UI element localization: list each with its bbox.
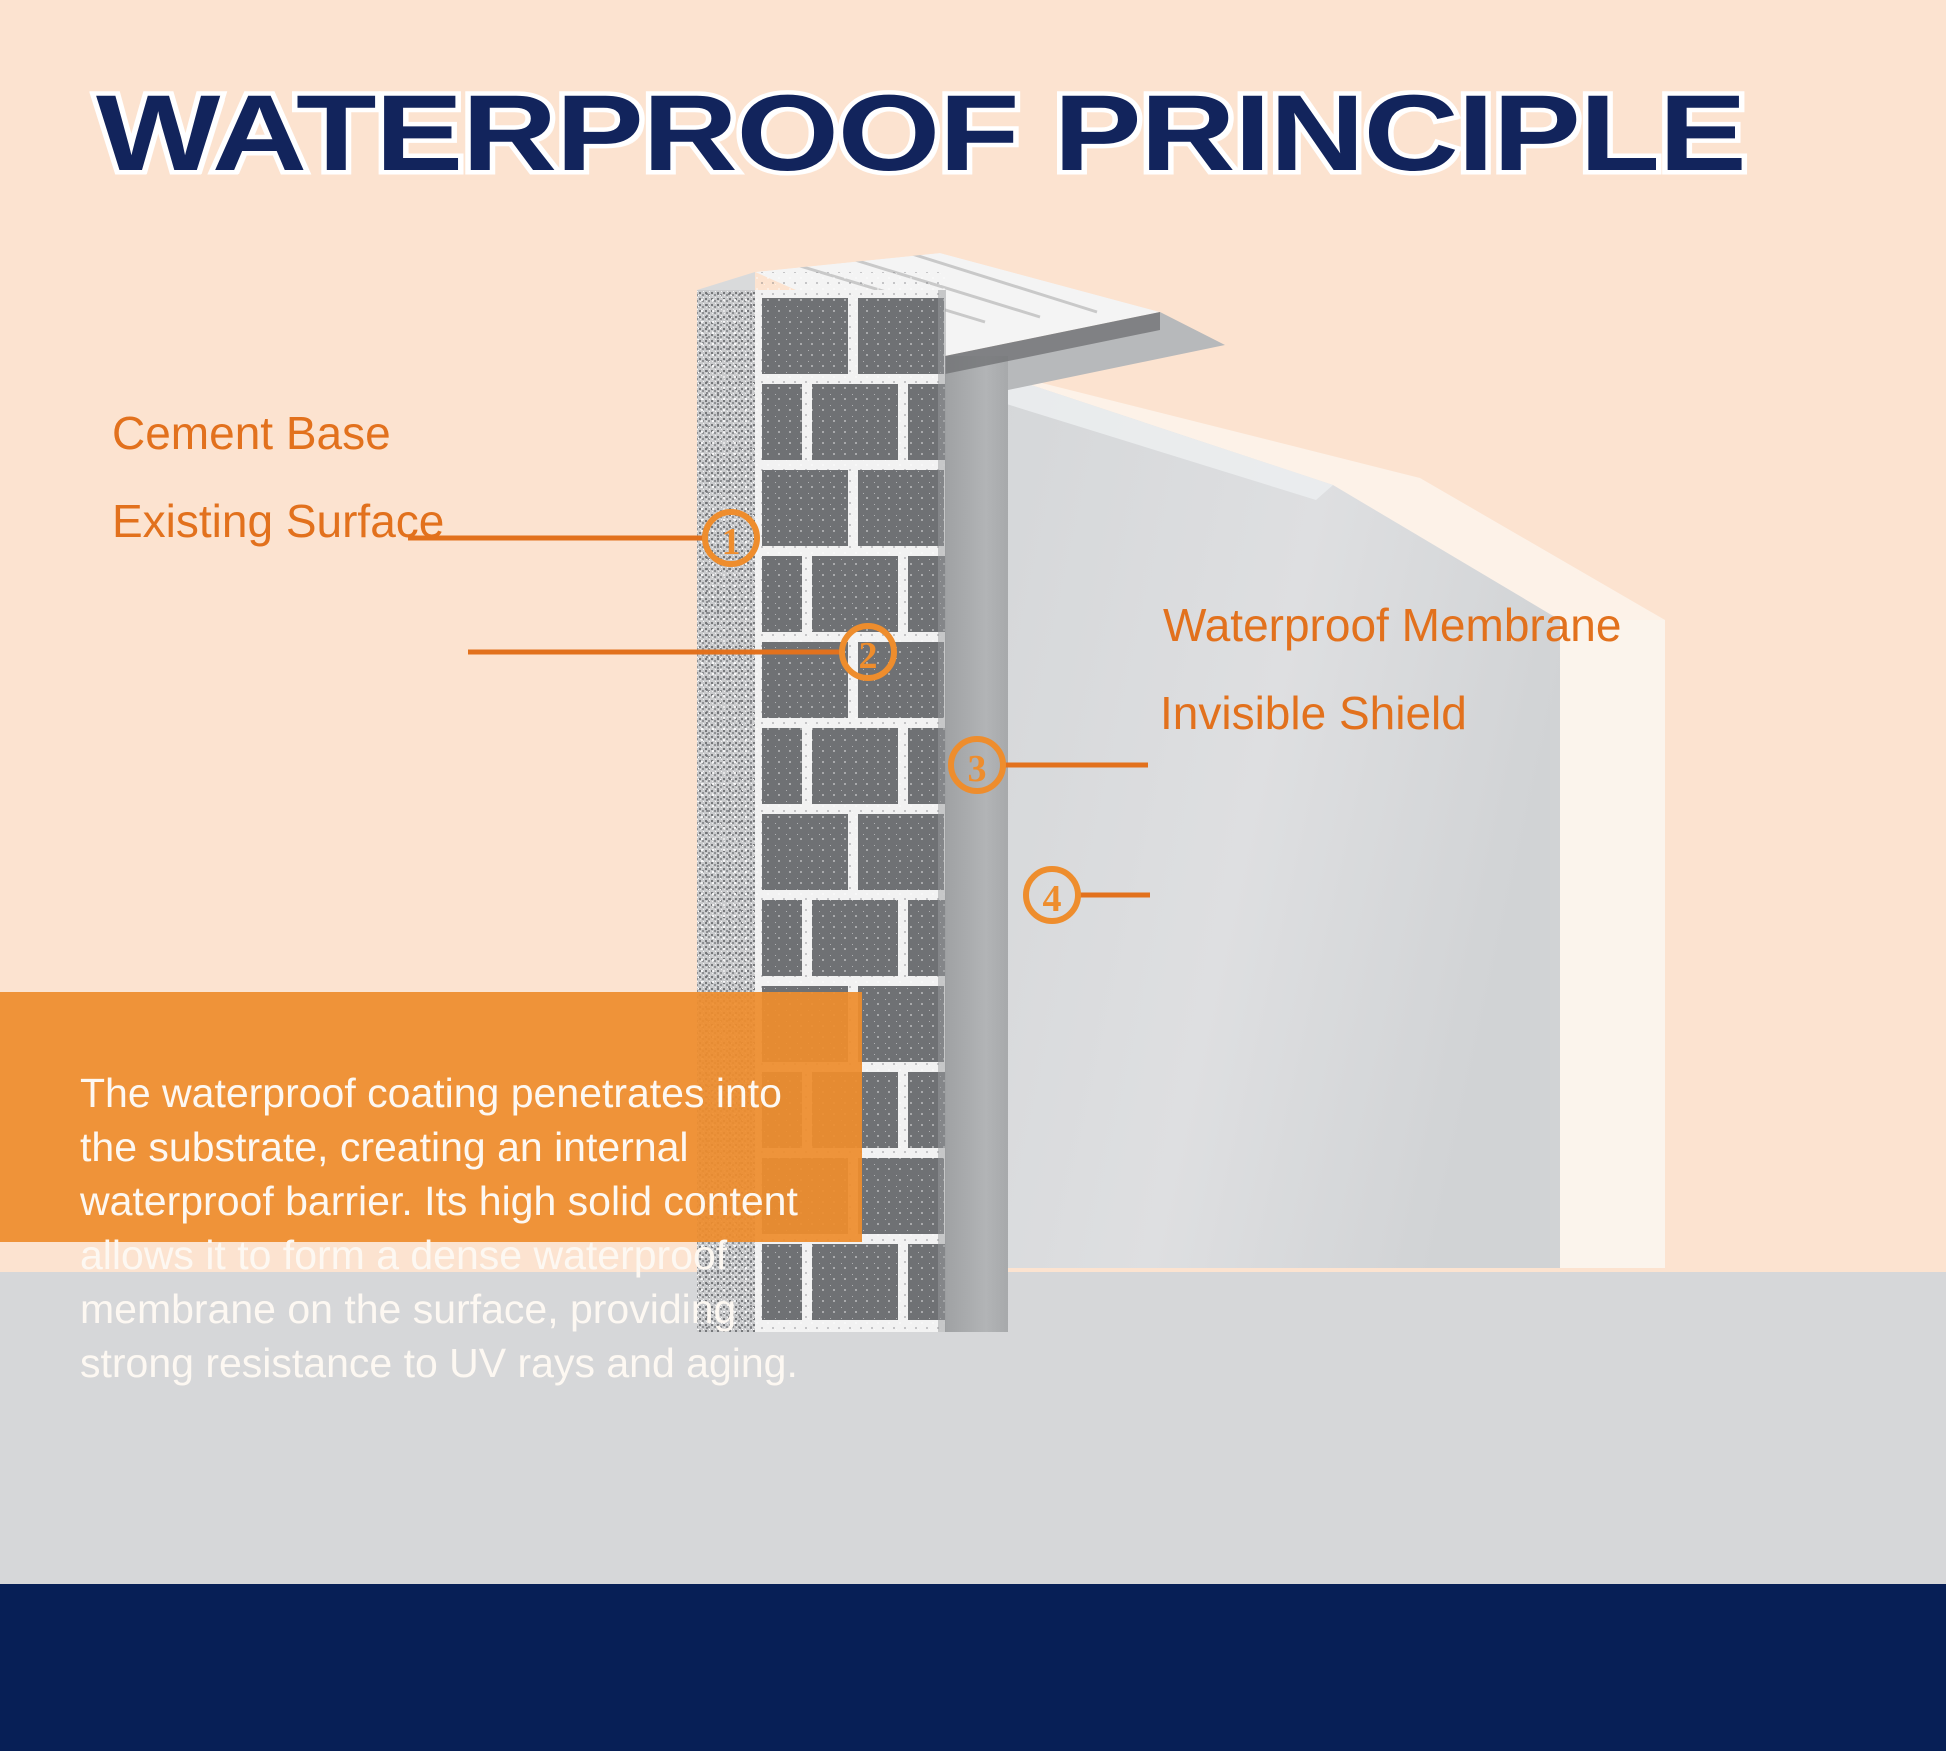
page-title-text: WATERPROOF PRINCIPLE	[96, 78, 1946, 188]
callout-label-invisible-shield: Invisible Shield	[1160, 688, 1467, 738]
svg-text:2: 2	[859, 635, 878, 677]
footer-bar	[0, 1584, 1946, 1751]
svg-text:1: 1	[722, 521, 741, 563]
description-text: The waterproof coating penetrates into t…	[80, 1066, 840, 1390]
page-title: WATERPROOF PRINCIPLE	[96, 78, 1856, 188]
infographic-canvas: 1 2 3 4 WATERPROOF PRINCIPLE Cement Base…	[0, 0, 1946, 1751]
callout-label-existing-surface: Existing Surface	[112, 496, 444, 546]
callout-label-waterproof-membrane: Waterproof Membrane	[1163, 600, 1621, 650]
waterproof-membrane-layer	[945, 312, 1225, 1332]
svg-text:4: 4	[1043, 878, 1062, 920]
callout-label-cement-base: Cement Base	[112, 408, 391, 458]
svg-text:3: 3	[968, 748, 987, 790]
